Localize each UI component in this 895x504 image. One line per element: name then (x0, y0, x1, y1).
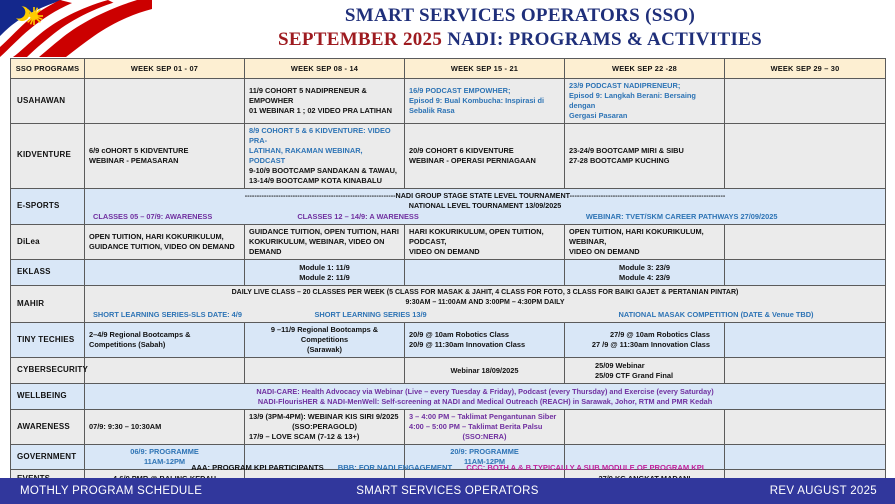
cell-line: Competitions (Sabah) (89, 340, 240, 350)
cell-line: 17/9 – LOVE SCAM (7-12 & 13+) (249, 432, 400, 442)
cell-line: 8/9 COHORT 5 & 6 KIDVENTURE: VIDEO PRA- (249, 126, 400, 146)
table-row-esports: E-SPORTS -------------------------------… (11, 188, 886, 224)
cell-line: 06/9: PROGRAMME (89, 447, 240, 457)
page-footer: MOTHLY PROGRAM SCHEDULE SMART SERVICES O… (0, 478, 895, 504)
row-label-awareness: AWARENESS (11, 410, 85, 445)
table-row-awareness: AWARENESS 07/9: 9:30 – 10:30AM 13/9 (3PM… (11, 410, 886, 445)
wellbeing-line-2: NADI-FlourisHER & NADI-MenWell: Self-scr… (89, 397, 881, 407)
dash-left: ----------------------------------------… (245, 191, 396, 200)
cell-line: Sebalik Rasa (409, 106, 560, 116)
cell-dilea-w2: GUIDANCE TUITION, OPEN TUITION, HARI KOK… (245, 225, 405, 260)
esports-note-1: CLASSES 05 – 07/9: AWARENESS (89, 212, 293, 222)
cell-line: Module 2: 11/9 (249, 273, 400, 283)
cell-line: 13/9 (3PM-4PM): WEBINAR KIS SIRI 9/2025 (249, 412, 400, 422)
cell-eklass-w1 (85, 260, 245, 286)
cell-dilea-w5 (725, 225, 886, 260)
cell-usahawan-w1 (85, 79, 245, 124)
cell-dilea-w3: HARI KOKURIKULUM, OPEN TUITION, PODCAST,… (405, 225, 565, 260)
footer-left: MOTHLY PROGRAM SCHEDULE (20, 485, 202, 497)
cell-line: KOKURIKULUM, WEBINAR, VIDEO ON DEMAND (249, 237, 400, 257)
cell-line: 01 WEBINAR 1 ; 02 VIDEO PRA LATIHAN (249, 106, 400, 116)
cell-tiny-w3: 20/9 @ 10am Robotics Class 20/9 @ 11:30a… (405, 323, 565, 358)
table-row-tiny-techies: TINY TECHIES 2–4/9 Regional Bootcamps & … (11, 323, 886, 358)
cell-eklass-w2: Module 1: 11/9 Module 2: 11/9 (245, 260, 405, 286)
cell-awareness-w3: 3 – 4:00 PM – Taklimat Pengantunan Siber… (405, 410, 565, 445)
cell-line: (SSO:PERAGOLD) (249, 422, 400, 432)
cell-eklass-w5 (725, 260, 886, 286)
cell-dilea-w4: OPEN TUITION, HARI KOKURIKULUM, WEBINAR,… (565, 225, 725, 260)
cell-mahir-span: DAILY LIVE CLASS – 20 CLASSES PER WEEK (… (85, 286, 886, 323)
row-label-mahir: MAHIR (11, 286, 85, 323)
mahir-note-3: NATIONAL MASAK COMPETITION (DATE & Venue… (551, 310, 881, 320)
table-row-usahawan: USAHAWAN 11/9 COHORT 5 NADIPRENEUR & EMP… (11, 79, 886, 124)
col-header-week2: WEEK SEP 08 - 14 (245, 59, 405, 79)
schedule-page: SMART SERVICES OPERATORS (SSO) SEPTEMBER… (0, 0, 895, 504)
cell-awareness-w5 (725, 410, 886, 445)
cell-kidventure-w5 (725, 123, 886, 188)
cell-line: 6/9 cOHORT 5 KIDVENTURE (89, 146, 240, 156)
cell-line: HARI KOKURIKULUM, OPEN TUITION, PODCAST, (409, 227, 560, 247)
cell-kidventure-w3: 20/9 COHORT 6 KIDVENTURE WEBINAR - OPERA… (405, 123, 565, 188)
cell-line: 16/9 PODCAST EMPOWHER; (409, 86, 560, 96)
cell-line: 20/9 COHORT 6 KIDVENTURE (409, 146, 560, 156)
cell-line: OPEN TUITION, HARI KOKURIKULUM, WEBINAR, (569, 227, 720, 247)
cell-awareness-w1: 07/9: 9:30 – 10:30AM (85, 410, 245, 445)
cell-cyber-w4: 25/09 Webinar 25/09 CTF Grand Final (565, 358, 725, 384)
cell-line: Module 3: 23/9 (569, 263, 720, 273)
cell-line: VIDEO ON DEMAND (569, 247, 720, 257)
mahir-banner-2: 9:30AM – 11:00AM AND 3:00PM – 4:30PM DAI… (89, 298, 881, 307)
row-label-esports: E-SPORTS (11, 188, 85, 224)
cell-line: 4:00 – 5:00 PM – Taklimat Berita Palsu (409, 422, 560, 432)
cell-line: Module 1: 11/9 (249, 263, 400, 273)
cell-line: 9 –11/9 Regional Bootcamps & Competition… (249, 325, 400, 345)
title-line-1: SMART SERVICES OPERATORS (SSO) (150, 4, 890, 28)
cell-line: WEBINAR - PEMASARAN (89, 156, 240, 166)
cell-eklass-w4: Module 3: 23/9 Module 4: 23/9 (565, 260, 725, 286)
esports-note-3: WEBINAR: TVET/SKM CAREER PATHWAYS 27/09/… (532, 212, 832, 222)
cell-line: 13-14/9 BOOTCAMP KOTA KINABALU (249, 176, 400, 186)
mahir-banner-1: DAILY LIVE CLASS – 20 CLASSES PER WEEK (… (89, 288, 881, 297)
footer-right: REV AUGUST 2025 (770, 485, 877, 497)
table-row-dilea: DiLea OPEN TUITION, HARI KOKURIKULUM, GU… (11, 225, 886, 260)
cell-line: (SSO:NERA) (409, 432, 560, 442)
cell-dilea-w1: OPEN TUITION, HARI KOKURIKULUM, GUIDANCE… (85, 225, 245, 260)
row-label-kidventure: KIDVENTURE (11, 123, 85, 188)
cell-usahawan-w4: 23/9 PODCAST NADIPRENEUR; Episod 9: Lang… (565, 79, 725, 124)
cell-line: 20/9 @ 10am Robotics Class (409, 330, 560, 340)
table-row-mahir: MAHIR DAILY LIVE CLASS – 20 CLASSES PER … (11, 286, 886, 323)
cell-line: GUIDANCE TUITION, OPEN TUITION, HARI (249, 227, 400, 237)
col-header-week5: WEEK SEP 29 – 30 (725, 59, 886, 79)
table-row-wellbeing: WELLBEING NADI-CARE: Health Advocacy via… (11, 384, 886, 410)
cell-line: VIDEO ON DEMAND (409, 247, 560, 257)
cell-line: 2–4/9 Regional Bootcamps & (89, 330, 240, 340)
wellbeing-line-1: NADI-CARE: Health Advocacy via Webinar (… (89, 387, 881, 397)
cell-line: 27 /9 @ 11:30am Innovation Class (569, 340, 710, 350)
cell-line: 20/9: PROGRAMME (409, 447, 560, 457)
cell-line: 25/09 Webinar (595, 361, 720, 371)
col-header-week4: WEEK SEP 22 -28 (565, 59, 725, 79)
cell-line: 11/9 COHORT 5 NADIPRENEUR & EMPOWHER (249, 86, 400, 106)
row-label-usahawan: USAHAWAN (11, 79, 85, 124)
cell-wellbeing-span: NADI-CARE: Health Advocacy via Webinar (… (85, 384, 886, 410)
title-subject: NADI: PROGRAMS & ACTIVITIES (442, 29, 762, 50)
cell-line: 27/9 @ 10am Robotics Class (569, 330, 710, 340)
cell-line: 20/9 @ 11:30am Innovation Class (409, 340, 560, 350)
title-month: SEPTEMBER 2025 (278, 29, 442, 50)
title-line-2: SEPTEMBER 2025 NADI: PROGRAMS & ACTIVITI… (150, 28, 890, 53)
cell-cyber-w1 (85, 358, 245, 384)
cell-tiny-w4: 27/9 @ 10am Robotics Class 27 /9 @ 11:30… (565, 323, 725, 358)
cell-eklass-w3 (405, 260, 565, 286)
cell-line: 3 – 4:00 PM – Taklimat Pengantunan Siber (409, 412, 560, 422)
col-header-week3: WEEK SEP 15 - 21 (405, 59, 565, 79)
legend-item-bbb: BBB: FOR NADI ENGAGEMENT (338, 463, 452, 472)
table-row-kidventure: KIDVENTURE 6/9 cOHORT 5 KIDVENTURE WEBIN… (11, 123, 886, 188)
cell-line: 27-28 BOOTCAMP KUCHING (569, 156, 720, 166)
cell-line: 23-24/9 BOOTCAMP MIRI & SIBU (569, 146, 720, 156)
dash-right: ----------------------------------------… (570, 191, 726, 200)
esports-note-2: CLASSES 12 – 14/9: A WARENESS (297, 212, 527, 222)
cell-kidventure-w1: 6/9 cOHORT 5 KIDVENTURE WEBINAR - PEMASA… (85, 123, 245, 188)
cell-cyber-w3: Webinar 18/09/2025 (405, 358, 565, 384)
cell-line: 9-10/9 BOOTCAMP SANDAKAN & TAWAU, (249, 166, 400, 176)
table-header-row: SSO PROGRAMS WEEK SEP 01 - 07 WEEK SEP 0… (11, 59, 886, 79)
esports-banner-1: NADI GROUP STAGE STATE LEVEL TOURNAMENT (396, 191, 570, 200)
row-label-eklass: EKLASS (11, 260, 85, 286)
row-label-tiny-techies: TINY TECHIES (11, 323, 85, 358)
cell-line: Episod 9: Bual Kombucha: Inspirasi di (409, 96, 560, 106)
mahir-note-1: SHORT LEARNING SERIES-SLS DATE: 4/9 (89, 310, 288, 320)
cell-line: (Sarawak) (249, 345, 400, 355)
legend-item-ccc: CCC: BOTH A & B TYPICALLY A SUB MODULE O… (466, 463, 704, 472)
cell-line: 23/9 PODCAST NADIPRENEUR; (569, 81, 720, 91)
cell-kidventure-w4: 23-24/9 BOOTCAMP MIRI & SIBU 27-28 BOOTC… (565, 123, 725, 188)
cell-line: LATIHAN, RAKAMAN WEBINAR, PODCAST (249, 146, 400, 166)
cell-line: Gergasi Pasaran (569, 111, 720, 121)
col-header-programs: SSO PROGRAMS (11, 59, 85, 79)
cell-tiny-w5 (725, 323, 886, 358)
table-row-cybersecurity: CYBERSECURITY Webinar 18/09/2025 25/09 W… (11, 358, 886, 384)
row-label-wellbeing: WELLBEING (11, 384, 85, 410)
cell-line: Episod 9: Langkah Berani: Bersaing denga… (569, 91, 720, 111)
row-label-cybersecurity: CYBERSECURITY (11, 358, 85, 384)
col-header-week1: WEEK SEP 01 - 07 (85, 59, 245, 79)
cell-tiny-w1: 2–4/9 Regional Bootcamps & Competitions … (85, 323, 245, 358)
malaysia-flag-icon (0, 0, 152, 58)
cell-tiny-w2: 9 –11/9 Regional Bootcamps & Competition… (245, 323, 405, 358)
cell-usahawan-w3: 16/9 PODCAST EMPOWHER; Episod 9: Bual Ko… (405, 79, 565, 124)
legend-row: AAA: PROGRAM KPI PARTICIPANTS BBB: FOR N… (10, 463, 885, 472)
cell-line: OPEN TUITION, HARI KOKURIKULUM, (89, 232, 240, 242)
cell-esports-span: ----------------------------------------… (85, 188, 886, 224)
esports-banner-2: NATIONAL LEVEL TOURNAMENT 13/09/2025 (89, 201, 881, 211)
cell-cyber-w5 (725, 358, 886, 384)
cell-line: 25/09 CTF Grand Final (595, 371, 720, 381)
page-title: SMART SERVICES OPERATORS (SSO) SEPTEMBER… (150, 4, 890, 52)
mahir-note-2: SHORT LEARNING SERIES 13/9 (315, 310, 525, 320)
cell-kidventure-w2: 8/9 COHORT 5 & 6 KIDVENTURE: VIDEO PRA- … (245, 123, 405, 188)
program-schedule-table: SSO PROGRAMS WEEK SEP 01 - 07 WEEK SEP 0… (10, 58, 886, 490)
cell-line: Module 4: 23/9 (569, 273, 720, 283)
table-row-eklass: EKLASS Module 1: 11/9 Module 2: 11/9 Mod… (11, 260, 886, 286)
cell-line: GUIDANCE TUITION, VIDEO ON DEMAND (89, 242, 240, 252)
row-label-dilea: DiLea (11, 225, 85, 260)
cell-awareness-w4 (565, 410, 725, 445)
legend-item-aaa: AAA: PROGRAM KPI PARTICIPANTS (191, 463, 324, 472)
esports-banner-line1: ----------------------------------------… (89, 191, 881, 201)
cell-line: WEBINAR - OPERASI PERNIAGAAN (409, 156, 560, 166)
cell-usahawan-w5 (725, 79, 886, 124)
cell-awareness-w2: 13/9 (3PM-4PM): WEBINAR KIS SIRI 9/2025 … (245, 410, 405, 445)
cell-cyber-w2 (245, 358, 405, 384)
cell-usahawan-w2: 11/9 COHORT 5 NADIPRENEUR & EMPOWHER 01 … (245, 79, 405, 124)
